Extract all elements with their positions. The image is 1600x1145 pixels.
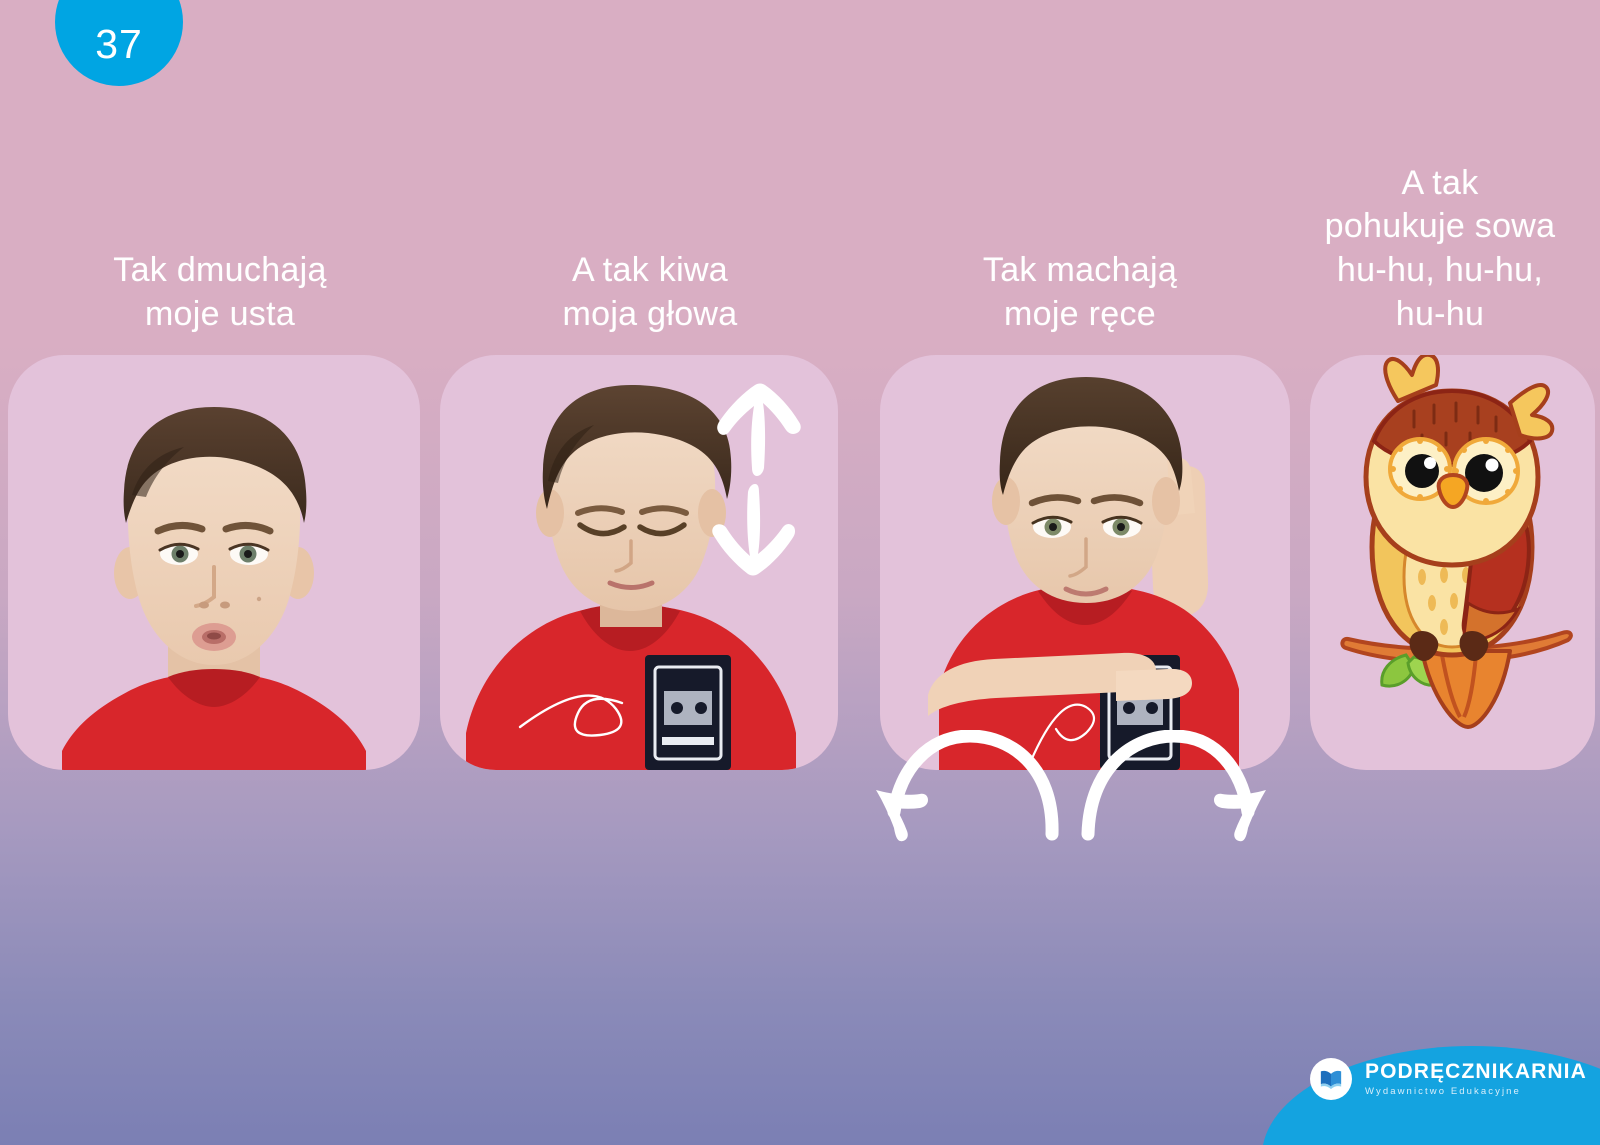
caption-line: hu-hu, hu-hu, bbox=[1290, 249, 1590, 293]
worksheet-page: 37 Tak dmuchają moje usta A tak kiwa moj… bbox=[0, 0, 1600, 1145]
panel-card-4 bbox=[1310, 355, 1595, 770]
caption-line: moja głowa bbox=[440, 293, 860, 337]
caption-panel-2: A tak kiwa moja głowa bbox=[440, 249, 860, 337]
caption-line: A tak bbox=[1290, 162, 1590, 206]
caption-panel-1: Tak dmuchają moje usta bbox=[10, 249, 430, 337]
caption-row: Tak dmuchają moje usta A tak kiwa moja g… bbox=[0, 0, 1600, 355]
boy-waving-photo bbox=[880, 355, 1290, 770]
caption-panel-4: A tak pohukuje sowa hu-hu, hu-hu, hu-hu bbox=[1290, 162, 1590, 337]
publisher-logo[interactable]: PODRĘCZNIKARNIA Wydawnictwo Edukacyjne bbox=[1310, 1058, 1587, 1100]
caption-line: moje usta bbox=[10, 293, 430, 337]
boy-blowing-photo bbox=[8, 355, 420, 770]
boy-nodding-photo bbox=[440, 355, 838, 770]
caption-line: moje ręce bbox=[880, 293, 1280, 337]
caption-line: pohukuje sowa bbox=[1290, 205, 1590, 249]
caption-line: Tak machają bbox=[880, 249, 1280, 293]
owl-cartoon-illustration bbox=[1310, 355, 1595, 770]
open-book-icon bbox=[1310, 1058, 1352, 1100]
panel-card-2 bbox=[440, 355, 838, 770]
panel-card-1 bbox=[8, 355, 420, 770]
caption-line: Tak dmuchają bbox=[10, 249, 430, 293]
publisher-name: PODRĘCZNIKARNIA bbox=[1365, 1061, 1587, 1082]
publisher-tagline: Wydawnictwo Edukacyjne bbox=[1365, 1087, 1587, 1097]
caption-panel-3: Tak machają moje ręce bbox=[880, 249, 1280, 337]
panel-card-3 bbox=[880, 355, 1290, 770]
publisher-logo-text: PODRĘCZNIKARNIA Wydawnictwo Edukacyjne bbox=[1365, 1061, 1587, 1097]
caption-line: A tak kiwa bbox=[440, 249, 860, 293]
caption-line: hu-hu bbox=[1290, 293, 1590, 337]
